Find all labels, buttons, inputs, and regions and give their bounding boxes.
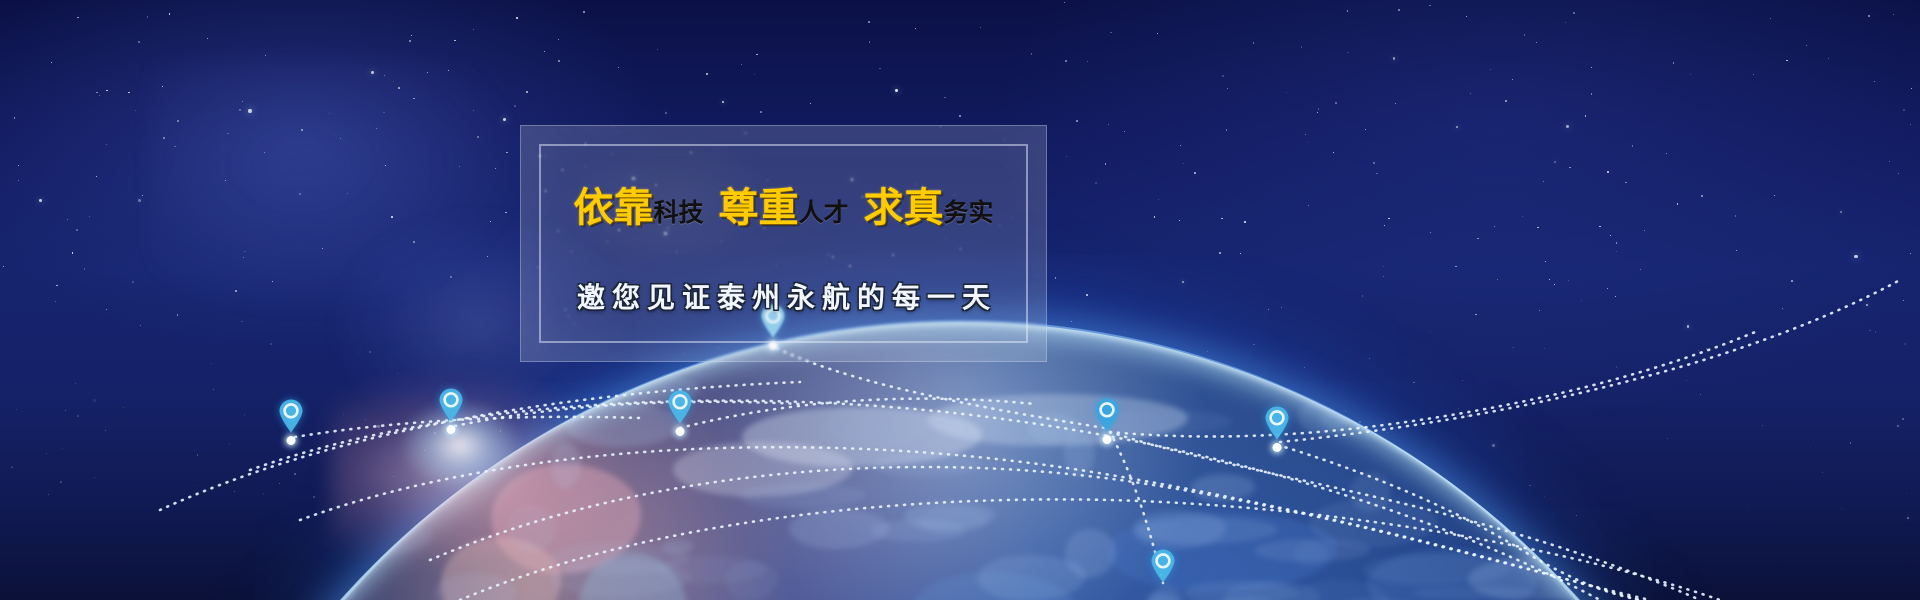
slogan-panel: 依靠科技尊重人才求真务实 邀您见证泰州永航的每一天 bbox=[520, 125, 1047, 362]
headline-segment-2: 科技 bbox=[653, 200, 703, 227]
headline-segment-4: 人才 bbox=[798, 200, 848, 227]
slogan-headline: 依靠科技尊重人才求真务实 bbox=[521, 188, 1046, 228]
earth-surface-texture bbox=[140, 322, 1780, 600]
headline-segment-6: 务实 bbox=[944, 200, 994, 227]
earth-sphere bbox=[140, 322, 1780, 600]
headline-segment-1: 依靠 bbox=[573, 185, 653, 230]
slogan-panel-content: 依靠科技尊重人才求真务实 邀您见证泰州永航的每一天 bbox=[521, 126, 1046, 361]
headline-segment-3: 尊重 bbox=[718, 185, 798, 230]
headline-segment-5: 求真 bbox=[864, 185, 944, 230]
banner-hero: 依靠科技尊重人才求真务实 邀您见证泰州永航的每一天 bbox=[0, 0, 1920, 600]
slogan-subtitle: 邀您见证泰州永航的每一天 bbox=[521, 276, 1046, 316]
